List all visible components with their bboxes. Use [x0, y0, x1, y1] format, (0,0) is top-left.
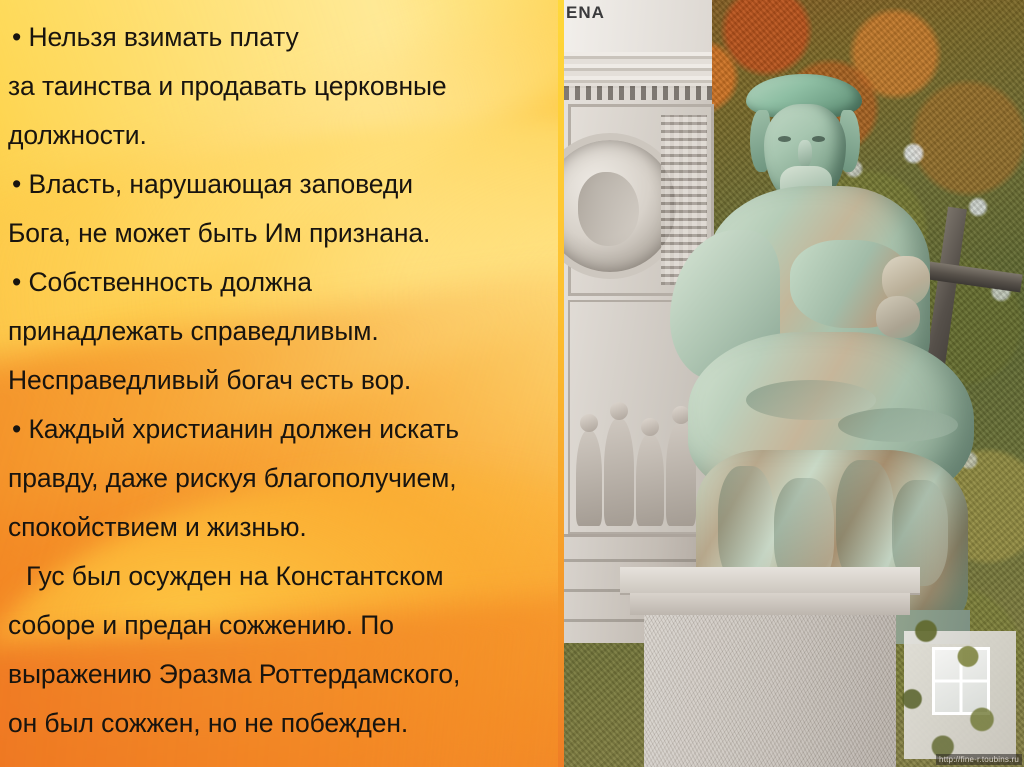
- pedestal-body: [644, 615, 896, 767]
- source-watermark: http://fine-r.toubins.ru: [936, 754, 1022, 765]
- text-line: соборе и предан сожжению. По: [8, 612, 564, 639]
- relief-figure: [576, 430, 602, 526]
- foreground-branches: [884, 597, 1024, 767]
- robe-knee-fold: [838, 408, 958, 442]
- statue-hand-lower: [876, 296, 920, 338]
- drapery-fold: [836, 460, 894, 584]
- text-line: Бога, не может быть Им признана.: [8, 220, 564, 247]
- statue-eye-left: [778, 136, 791, 142]
- text-line: спокойствием и жизнью.: [8, 514, 564, 541]
- pedestal-granite-texture: [644, 615, 896, 767]
- text-line: выражению Эразма Роттердамского,: [8, 661, 564, 688]
- text-line: • Власть, нарушающая заповеди: [12, 171, 564, 198]
- slide-text-block: • Нельзя взимать плату за таинства и про…: [0, 0, 564, 767]
- pedestal-cap: [620, 567, 920, 595]
- relief-figure: [604, 418, 634, 526]
- text-line: • Нельзя взимать плату: [12, 24, 564, 51]
- text-line: Гус был осужден на Константском: [26, 563, 564, 590]
- text-line: он был сожжен, но не побежден.: [8, 710, 564, 737]
- monument-inscription: ENA: [566, 2, 605, 23]
- text-line: за таинства и продавать церковные: [8, 73, 564, 100]
- presentation-slide: • Нельзя взимать плату за таинства и про…: [0, 0, 1024, 767]
- text-line: Несправедливый богач есть вор.: [8, 367, 564, 394]
- statue-nose: [798, 140, 812, 168]
- text-line: принадлежать справедливым.: [8, 318, 564, 345]
- text-panel: • Нельзя взимать плату за таинства и про…: [0, 0, 564, 767]
- jan-hus-bronze-statue: [660, 70, 990, 630]
- pedestal-cornice: [630, 593, 910, 615]
- text-line: • Собственность должна: [12, 269, 564, 296]
- granite-pedestal: [620, 567, 920, 767]
- monument-top-block: ENA: [564, 0, 712, 55]
- text-line: • Каждый христианин должен искать: [12, 416, 564, 443]
- statue-photograph: ENA: [564, 0, 1024, 767]
- text-line: должности.: [8, 122, 564, 149]
- statue-eye-right: [812, 136, 825, 142]
- text-line: правду, даже рискуя благополучием,: [8, 465, 564, 492]
